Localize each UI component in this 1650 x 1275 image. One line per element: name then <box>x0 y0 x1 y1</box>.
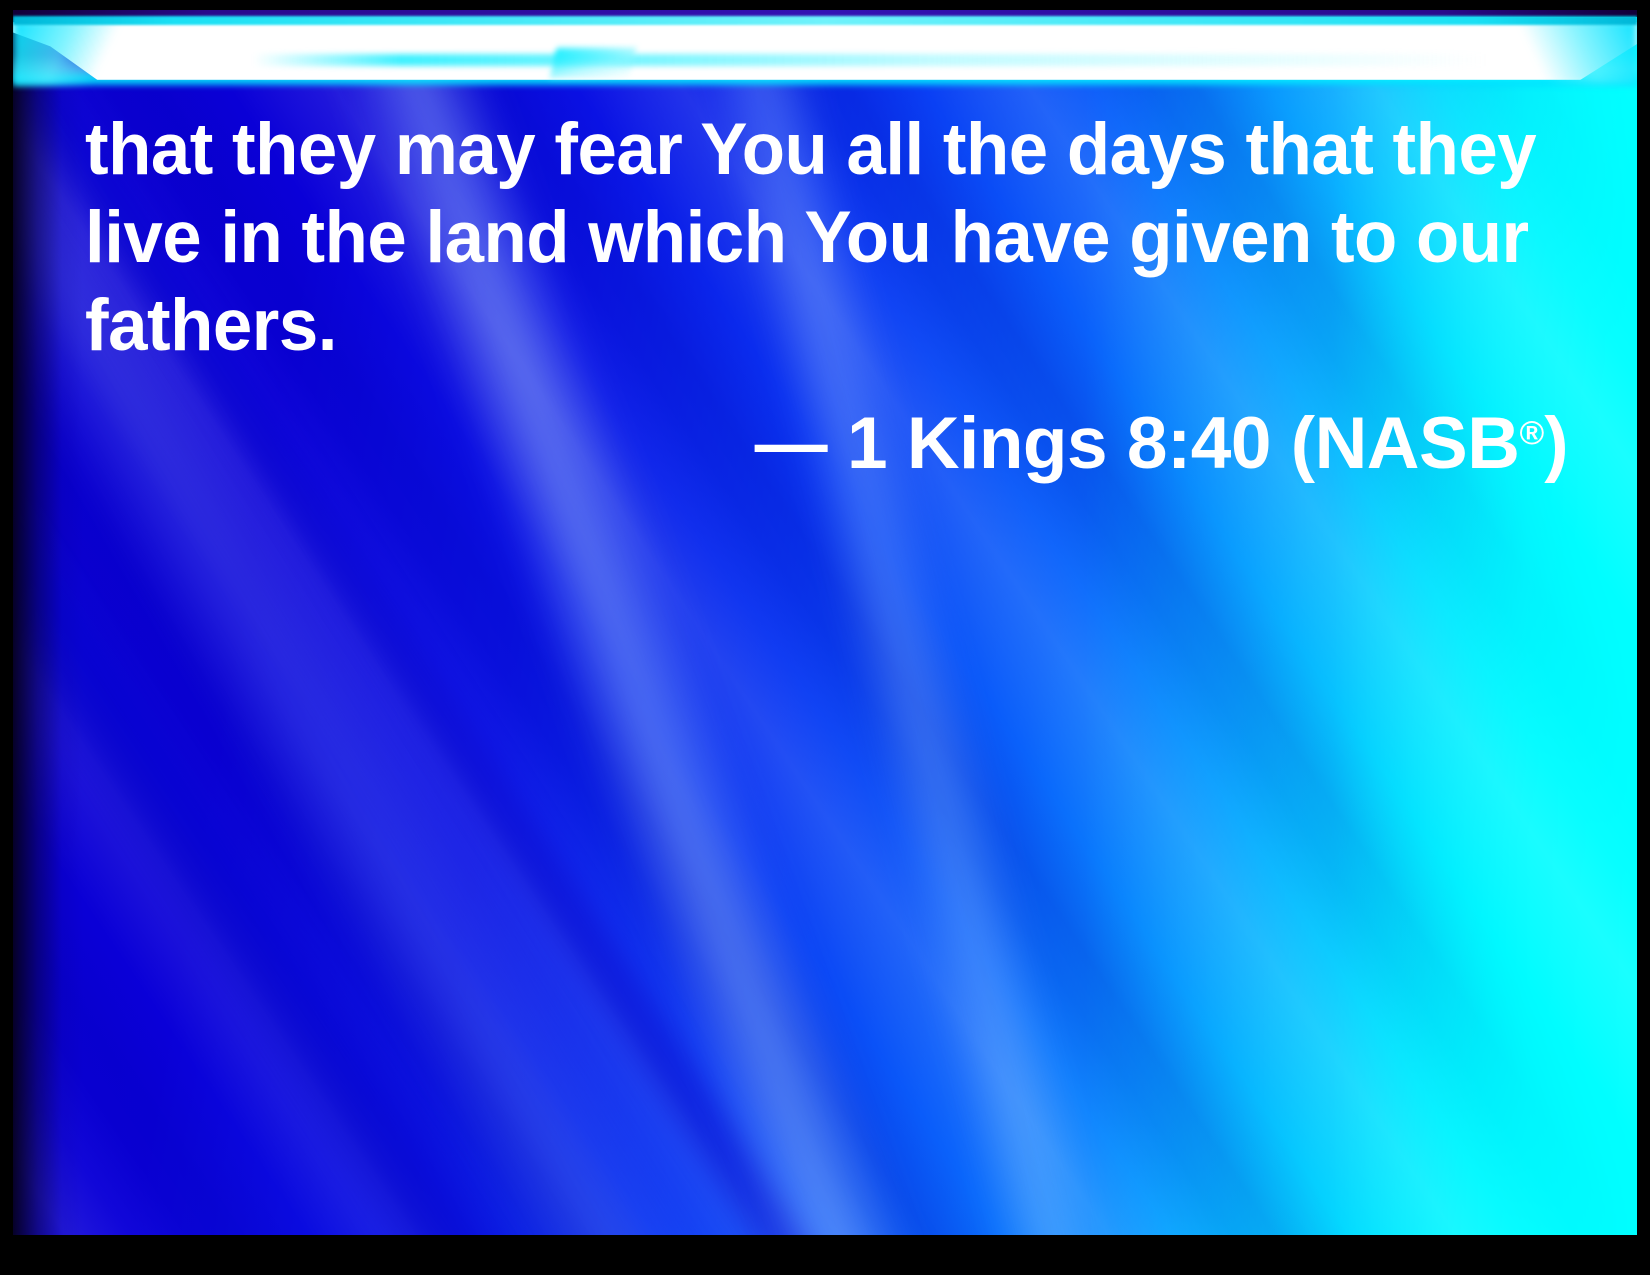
verse-body-text: that they may fear You all the days that… <box>85 106 1537 370</box>
verse-slide: that they may fear You all the days that… <box>0 0 1650 1275</box>
background-left-shade <box>13 10 83 1235</box>
registered-trademark-icon: ® <box>1519 415 1544 452</box>
verse-attribution: — 1 Kings 8:40 (NASB®) <box>85 392 1582 486</box>
attribution-prefix: — 1 Kings 8:40 (NASB <box>755 403 1520 484</box>
attribution-suffix: ) <box>1544 403 1568 484</box>
band-white-slab <box>13 22 1637 80</box>
verse-block: that they may fear You all the days that… <box>85 106 1582 486</box>
header-glow-band <box>13 10 1637 82</box>
band-right-wedge <box>1517 20 1637 84</box>
band-cyan-line <box>13 16 1637 25</box>
band-cyan-notch <box>550 48 636 78</box>
band-left-wedge <box>13 20 123 84</box>
slide-artwork: that they may fear You all the days that… <box>13 10 1637 1235</box>
band-cyan-streak <box>253 54 1487 66</box>
